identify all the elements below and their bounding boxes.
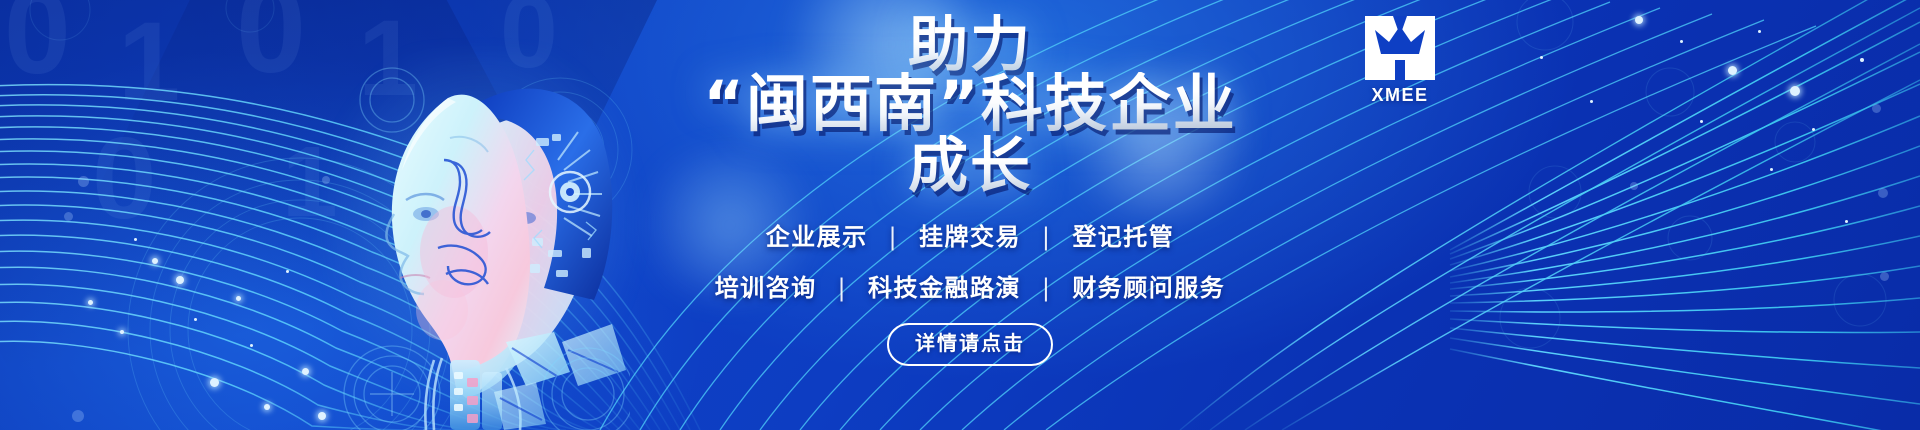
service-row-2: 培训咨询 | 科技金融路演 | 财务顾问服务 [620,268,1320,303]
background-wedge-left [0,0,632,430]
particle [210,378,219,387]
headline-line-3: 成长 [620,135,1320,197]
particle [1540,56,1543,59]
headline-line-2: “闽西南”科技企业 [620,72,1320,136]
xmee-crown-icon [1363,14,1437,82]
particle [250,344,253,347]
particle [264,404,270,410]
service-separator: | [827,274,859,302]
binary-glyph: 1 [118,6,180,118]
binary-glyph: 1 [358,4,418,112]
service-list: 企业展示 | 挂牌交易 | 登记托管 培训咨询 | 科技金融路演 | 财务顾问服… [620,217,1320,303]
particle [1880,272,1889,281]
robot-glow [300,50,660,430]
particle [1630,182,1638,190]
service-item[interactable]: 科技金融路演 [868,274,1021,302]
particle [120,330,124,334]
brand-name: XMEE [1355,85,1445,106]
background-wedge-upper [18,0,702,430]
service-item[interactable]: 挂牌交易 [919,223,1021,251]
binary-glyph: 0 [500,0,558,84]
binary-glyph: 0 [4,0,71,92]
details-cta-button[interactable]: 详情请点击 [887,323,1053,366]
service-item[interactable]: 财务顾问服务 [1072,274,1225,302]
particle [318,412,326,420]
brand-logo: XMEE [1355,14,1445,106]
page-title: 助力 “闽西南”科技企业 成长 [620,0,1320,197]
particle [1635,16,1643,24]
particle [78,176,89,187]
particle [1700,120,1703,123]
particle [286,270,289,273]
particle [1860,58,1864,62]
particle [134,238,137,241]
particle [1790,86,1800,96]
particle [236,296,241,301]
particle [72,410,84,422]
particle [1758,30,1761,33]
binary-glyph: 1 [282,132,338,232]
robot-head-illustration [330,42,630,430]
particle [88,300,93,305]
particle [1680,40,1683,43]
service-separator: | [1031,274,1063,302]
binary-glyph: 0 [92,120,157,236]
promo-banner: 0 1 0 1 0 1 0 [0,0,1920,430]
particle [1590,100,1593,103]
particle [64,212,73,221]
binary-glyph: 0 [236,0,306,92]
service-item[interactable]: 企业展示 [766,223,868,251]
service-separator: | [1031,223,1063,251]
particle [322,176,330,184]
particle [176,276,184,284]
particle [1845,220,1848,223]
banner-content: 助力 “闽西南”科技企业 成长 企业展示 | 挂牌交易 | 登记托管 培训咨询 … [620,0,1320,430]
particle [152,258,158,264]
service-item[interactable]: 培训咨询 [715,274,817,302]
particle [1770,168,1773,171]
service-row-1: 企业展示 | 挂牌交易 | 登记托管 [620,217,1320,252]
particle [1812,128,1815,131]
particle [1878,188,1888,198]
particle [1728,66,1737,75]
particle [1872,104,1881,113]
service-item[interactable]: 登记托管 [1072,223,1174,251]
particle [194,318,197,321]
particle [302,368,309,375]
service-separator: | [878,223,910,251]
